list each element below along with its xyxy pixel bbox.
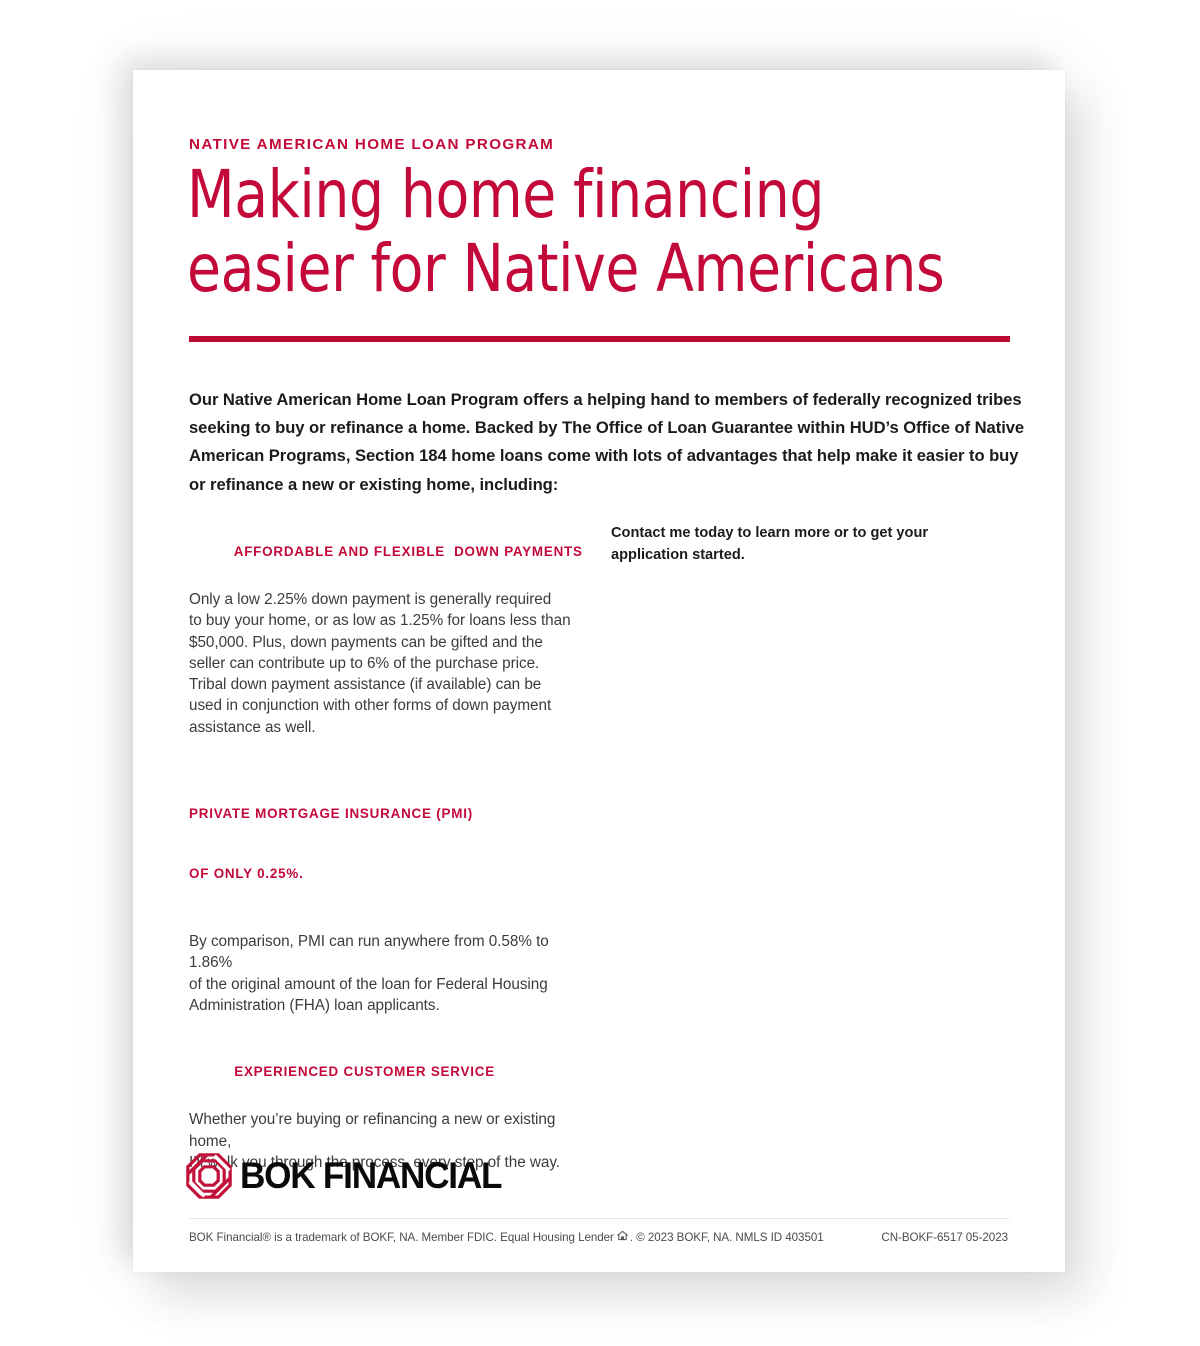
benefit-heading: PRIVATE MORTGAGE INSURANCE (PMI) OF ONLY… — [189, 764, 581, 924]
page-title-line-1: Making home financing — [187, 158, 1005, 232]
benefit-section: AFFORDABLE AND FLEXIBLE DOWN PAYMENTS On… — [189, 522, 581, 738]
benefit-heading-line-1: PRIVATE MORTGAGE INSURANCE (PMI) — [189, 804, 581, 824]
title-divider-rule — [189, 336, 1010, 342]
equal-housing-lender-house-icon — [617, 1230, 628, 1241]
benefit-heading-line-1: AFFORDABLE AND FLEXIBLE DOWN PAYMENTS — [234, 544, 583, 559]
intro-paragraph: Our Native American Home Loan Program of… — [189, 386, 1025, 499]
benefit-section: PRIVATE MORTGAGE INSURANCE (PMI) OF ONLY… — [189, 764, 581, 1016]
benefit-heading: AFFORDABLE AND FLEXIBLE DOWN PAYMENTS — [189, 522, 581, 582]
program-eyebrow-label: NATIVE AMERICAN HOME LOAN PROGRAM — [189, 136, 554, 153]
footer-legal-part-1: BOK Financial® is a trademark of BOKF, N… — [189, 1231, 614, 1244]
screenshot-canvas: NATIVE AMERICAN HOME LOAN PROGRAM Making… — [0, 0, 1200, 1346]
contact-column: Contact me today to learn more or to get… — [611, 522, 983, 566]
brand-logo-lockup: BOK FINANCIAL — [186, 1153, 515, 1199]
page-title-line-2: easier for Native Americans — [187, 232, 1005, 306]
brand-wordmark: BOK FINANCIAL — [240, 1155, 501, 1197]
page-title: Making home financing easier for Native … — [187, 158, 1005, 306]
footer-legal-part-2: . © 2023 BOKF, NA. NMLS ID 403501 — [630, 1231, 824, 1244]
footer-legal-text: BOK Financial® is a trademark of BOKF, N… — [189, 1230, 824, 1244]
footer-document-code: CN-BOKF-6517 05-2023 — [881, 1231, 1008, 1244]
benefit-heading-line-1: EXPERIENCED CUSTOMER SERVICE — [234, 1064, 495, 1079]
contact-cta-text: Contact me today to learn more or to get… — [611, 522, 983, 566]
benefit-body: By comparison, PMI can run anywhere from… — [189, 931, 581, 1016]
benefit-heading: EXPERIENCED CUSTOMER SERVICE — [189, 1042, 581, 1102]
benefit-body: Only a low 2.25% down payment is general… — [189, 589, 581, 738]
footer-divider — [189, 1218, 1010, 1219]
footer: BOK Financial® is a trademark of BOKF, N… — [189, 1230, 1010, 1244]
benefits-column: AFFORDABLE AND FLEXIBLE DOWN PAYMENTS On… — [189, 522, 581, 1199]
benefit-heading-line-2: OF ONLY 0.25%. — [189, 864, 581, 884]
document-page: NATIVE AMERICAN HOME LOAN PROGRAM Making… — [133, 70, 1065, 1272]
bok-octagon-spiral-icon — [186, 1153, 232, 1199]
